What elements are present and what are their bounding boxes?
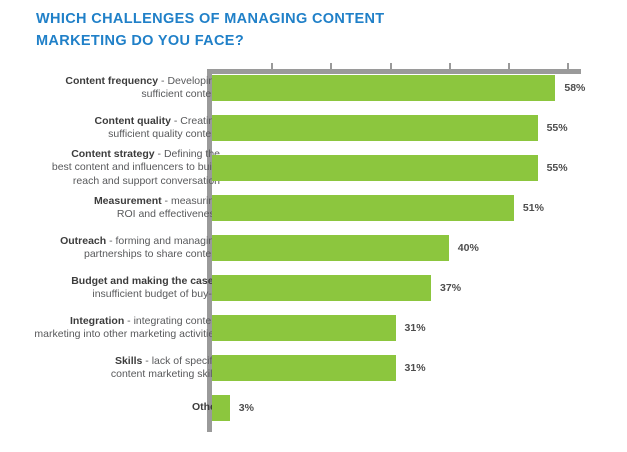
bar-value-measurement: 51% bbox=[523, 195, 544, 221]
category-label-outreach: Outreach - forming and managingpartnersh… bbox=[0, 235, 220, 262]
bar-other[interactable] bbox=[212, 395, 230, 421]
bar-integration[interactable] bbox=[212, 315, 396, 341]
bar-value-integration: 31% bbox=[405, 315, 426, 341]
bar-row-content-strategy: Content strategy - Defining thebest cont… bbox=[0, 155, 627, 195]
bar-content-quality[interactable] bbox=[212, 115, 538, 141]
bar-row-measurement: Measurement - measuringROI and effective… bbox=[0, 195, 627, 235]
x-axis-tick-60 bbox=[567, 63, 569, 69]
category-label-content-strategy: Content strategy - Defining thebest cont… bbox=[0, 148, 220, 189]
chart-container: WHICH CHALLENGES OF MANAGING CONTENT MAR… bbox=[0, 0, 627, 452]
bar-budget-and-making-the-case[interactable] bbox=[212, 275, 431, 301]
category-label-integration: Integration - integrating contentmarketi… bbox=[0, 315, 220, 342]
x-axis-line bbox=[207, 69, 581, 74]
x-axis-tick-10 bbox=[271, 63, 273, 69]
bar-content-strategy[interactable] bbox=[212, 155, 538, 181]
category-label-budget-and-making-the-case: Budget and making the case -insufficient… bbox=[0, 275, 220, 302]
bar-row-skills: Skills - lack of specificcontent marketi… bbox=[0, 355, 627, 395]
category-label-measurement: Measurement - measuringROI and effective… bbox=[0, 195, 220, 222]
bar-measurement[interactable] bbox=[212, 195, 514, 221]
category-label-content-frequency: Content frequency - Developingsufficient… bbox=[0, 75, 220, 102]
bar-value-content-frequency: 58% bbox=[564, 75, 585, 101]
bar-outreach[interactable] bbox=[212, 235, 449, 261]
bar-value-content-strategy: 55% bbox=[547, 155, 568, 181]
bar-row-content-frequency: Content frequency - Developingsufficient… bbox=[0, 75, 627, 115]
bar-value-skills: 31% bbox=[405, 355, 426, 381]
category-label-skills: Skills - lack of specificcontent marketi… bbox=[0, 355, 220, 382]
x-axis-tick-40 bbox=[449, 63, 451, 69]
x-axis-tick-20 bbox=[330, 63, 332, 69]
bar-row-other: Other3% bbox=[0, 395, 627, 435]
bar-skills[interactable] bbox=[212, 355, 396, 381]
bar-value-outreach: 40% bbox=[458, 235, 479, 261]
x-axis-tick-30 bbox=[390, 63, 392, 69]
category-label-other: Other bbox=[0, 401, 220, 415]
bar-value-budget-and-making-the-case: 37% bbox=[440, 275, 461, 301]
plot-area: Content frequency - Developingsufficient… bbox=[0, 0, 627, 452]
bar-row-outreach: Outreach - forming and managingpartnersh… bbox=[0, 235, 627, 275]
bar-row-integration: Integration - integrating contentmarketi… bbox=[0, 315, 627, 355]
bar-row-budget-and-making-the-case: Budget and making the case -insufficient… bbox=[0, 275, 627, 315]
x-axis-tick-50 bbox=[508, 63, 510, 69]
bar-content-frequency[interactable] bbox=[212, 75, 555, 101]
bar-value-content-quality: 55% bbox=[547, 115, 568, 141]
bar-value-other: 3% bbox=[239, 395, 254, 421]
category-label-content-quality: Content quality - Creatingsufficient qua… bbox=[0, 115, 220, 142]
